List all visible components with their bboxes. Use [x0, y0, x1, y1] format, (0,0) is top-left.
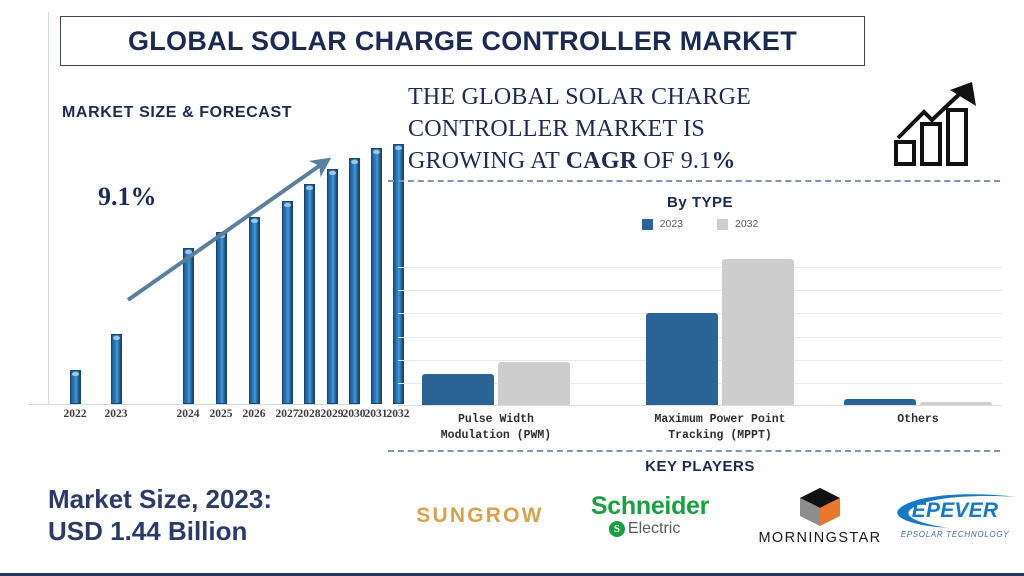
headline-line-2: CONTROLLER MARKET IS [408, 114, 828, 146]
left-chart-x-label: 2029 [321, 408, 344, 420]
logo-schneider-label: Schneider [591, 494, 709, 519]
headline-line-1: THE GLOBAL SOLAR CHARGE [408, 82, 828, 114]
logo-morningstar-label: MORNINGSTAR [758, 530, 881, 546]
infographic-page: GLOBAL SOLAR CHARGE CONTROLLER MARKET MA… [0, 0, 1024, 576]
by-type-category-label: Maximum Power PointTracking (MPPT) [605, 412, 835, 443]
by-type-bar [422, 374, 494, 405]
key-players-logos: SUNGROW Schneider S Electric [380, 478, 1020, 558]
growth-chart-icon [892, 80, 988, 168]
divider-bottom [388, 450, 1000, 452]
legend-item[interactable]: 2032 [717, 218, 758, 230]
market-size-2023-callout: Market Size, 2023: USD 1.44 Billion [48, 484, 358, 547]
by-type-bar [646, 313, 718, 405]
by-type-bar [844, 399, 916, 405]
left-chart-bar [249, 217, 260, 404]
left-chart-x-axis [28, 404, 360, 405]
left-chart-x-label: 2023 [105, 408, 128, 420]
left-chart-bar [70, 370, 81, 404]
legend-swatch [717, 219, 728, 230]
left-chart-x-label: 2027 [276, 408, 299, 420]
right-panel: THE GLOBAL SOLAR CHARGE CONTROLLER MARKE… [380, 72, 1024, 576]
headline-percent-emphasis: % [711, 148, 735, 174]
market-size-forecast-panel: MARKET SIZE & FORECAST 9.1% 202220232024… [0, 72, 360, 472]
by-type-category-label-line: Tracking (MPPT) [605, 428, 835, 444]
logo-sungrow-label: SUNGROW [416, 504, 543, 528]
left-chart-y-axis [48, 12, 49, 404]
left-chart-bar [216, 232, 227, 404]
left-chart-x-labels: 2022202320242025202620272028202920302031… [0, 408, 360, 430]
logo-schneider-electric: Schneider S Electric [558, 478, 742, 554]
divider-top [388, 180, 1000, 182]
by-type-category-label: Others [843, 412, 993, 428]
headline-line-3: GROWING AT CAGR OF 9.1% [408, 146, 828, 178]
market-size-line-1: Market Size, 2023: [48, 484, 358, 516]
logo-epever-sub: EPSOLAR TECHNOLOGY [901, 530, 1010, 539]
logo-morningstar: MORNINGSTAR [732, 478, 908, 554]
left-chart-bar [183, 248, 194, 404]
left-chart-x-label: 2026 [243, 408, 266, 420]
legend-label: 2023 [660, 218, 683, 230]
left-chart-bar [327, 169, 338, 404]
left-chart-bar [111, 334, 122, 404]
morningstar-cube-icon [797, 486, 843, 528]
by-type-category-label-line: Pulse Width [396, 412, 596, 428]
gridline [398, 290, 1002, 291]
left-chart-x-label: 2024 [177, 408, 200, 420]
by-type-category-label-line: Others [843, 412, 993, 428]
by-type-bar [498, 362, 570, 405]
headline-cagr-emphasis: CAGR [566, 148, 637, 174]
left-chart-x-label: 2030 [343, 408, 366, 420]
by-type-title: By TYPE [380, 194, 1020, 211]
left-chart-x-label: 2025 [210, 408, 233, 420]
key-players-title: KEY PLAYERS [380, 458, 1020, 475]
schneider-mark-icon: S [609, 521, 625, 537]
gridline [398, 267, 1002, 268]
by-type-category-labels: Pulse WidthModulation (PWM)Maximum Power… [398, 412, 1002, 452]
left-chart-x-label: 2028 [298, 408, 321, 420]
by-type-legend: 20232032 [380, 218, 1020, 230]
market-size-forecast-chart: 2022202320242025202620272028202920302031… [0, 72, 360, 472]
page-title: GLOBAL SOLAR CHARGE CONTROLLER MARKET [128, 26, 797, 57]
headline-line-3-mid: OF 9.1 [637, 148, 711, 174]
by-type-category-label: Pulse WidthModulation (PWM) [396, 412, 596, 443]
legend-label: 2032 [735, 218, 758, 230]
legend-swatch [642, 219, 653, 230]
by-type-bar [722, 259, 794, 405]
by-type-chart [398, 244, 1002, 406]
left-chart-x-label: 2022 [64, 408, 87, 420]
left-chart-bar [282, 201, 293, 404]
by-type-chart-baseline [398, 405, 1002, 406]
by-type-category-label-line: Modulation (PWM) [396, 428, 596, 444]
logo-schneider-sub: Electric [628, 520, 680, 538]
logo-epever: EPEVER EPSOLAR TECHNOLOGY [890, 478, 1020, 554]
by-type-bar [920, 402, 992, 405]
by-type-category-label-line: Maximum Power Point [605, 412, 835, 428]
page-title-box: GLOBAL SOLAR CHARGE CONTROLLER MARKET [60, 16, 865, 66]
headline-line-3-pre: GROWING AT [408, 148, 566, 174]
market-size-line-2: USD 1.44 Billion [48, 516, 358, 548]
left-chart-bar [349, 158, 360, 404]
logo-epever-label: EPEVER [912, 499, 998, 523]
headline-statement: THE GLOBAL SOLAR CHARGE CONTROLLER MARKE… [408, 82, 828, 178]
left-chart-bar [304, 184, 315, 404]
legend-item[interactable]: 2023 [642, 218, 683, 230]
logo-sungrow: SUNGROW [392, 478, 568, 554]
